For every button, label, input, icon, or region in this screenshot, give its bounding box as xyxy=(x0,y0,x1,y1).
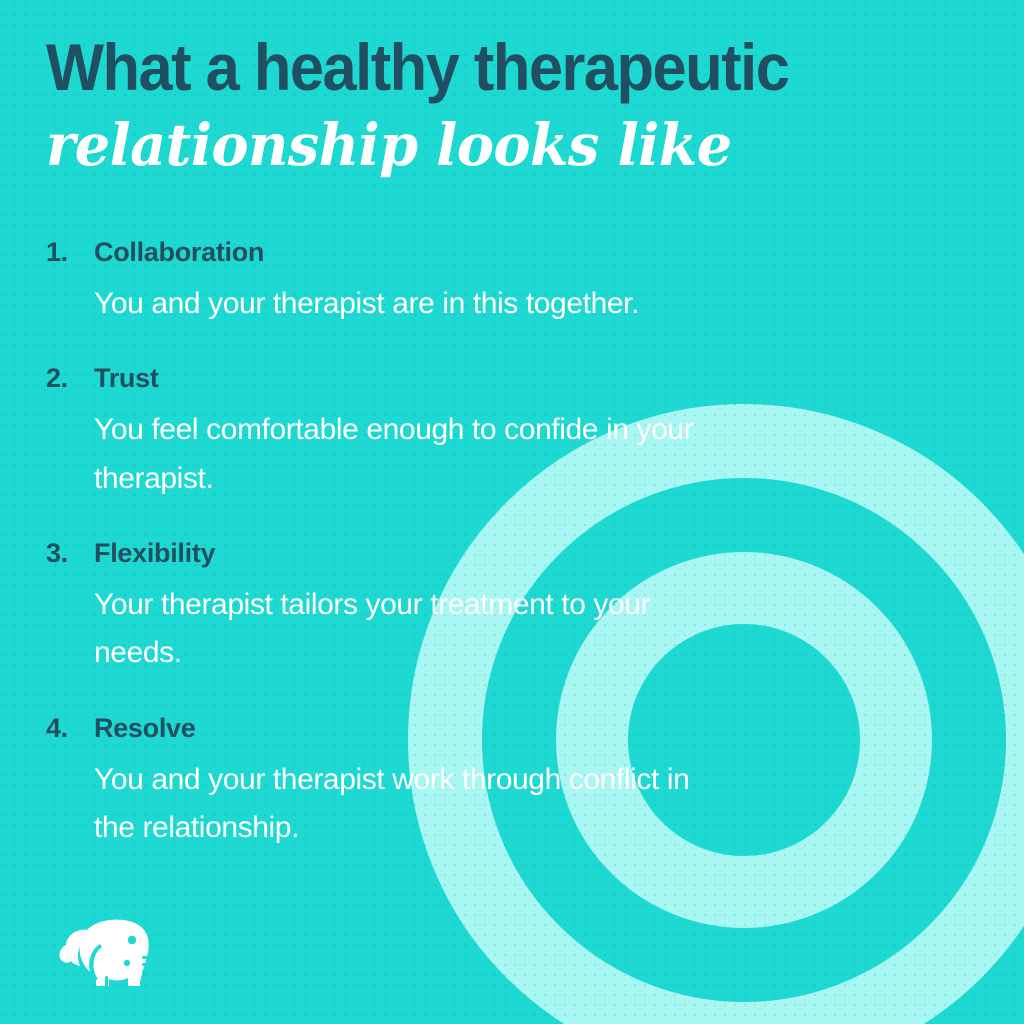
list-item: 4. Resolve You and your therapist work t… xyxy=(46,714,806,853)
list-item: 3. Flexibility Your therapist tailors yo… xyxy=(46,539,806,678)
list-item-number: 3. xyxy=(46,539,94,569)
list-item-header: 1. Collaboration xyxy=(46,238,806,268)
list-item-number: 2. xyxy=(46,364,94,394)
infographic-poster: What a healthy therapeutic relationship … xyxy=(0,0,1024,1024)
list-item: 1. Collaboration You and your therapist … xyxy=(46,238,806,328)
list-item-title: Trust xyxy=(94,364,159,394)
list-item-title: Flexibility xyxy=(94,539,215,569)
list-item-title: Resolve xyxy=(94,714,195,744)
list-item-header: 4. Resolve xyxy=(46,714,806,744)
list-item: 2. Trust You feel comfortable enough to … xyxy=(46,364,806,503)
list-item-header: 2. Trust xyxy=(46,364,806,394)
list-item-body: You feel comfortable enough to confide i… xyxy=(94,406,734,503)
list-item-title: Collaboration xyxy=(94,238,264,268)
elephant-logo xyxy=(58,916,154,990)
list-item-header: 3. Flexibility xyxy=(46,539,806,569)
title-block: What a healthy therapeutic relationship … xyxy=(46,34,966,176)
title-line-primary: What a healthy therapeutic xyxy=(46,34,902,101)
list-item-number: 4. xyxy=(46,714,94,744)
list-item-body: You and your therapist are in this toget… xyxy=(94,280,734,329)
title-line-secondary: relationship looks like xyxy=(46,115,929,175)
list-item-body: Your therapist tailors your treatment to… xyxy=(94,581,734,678)
list-item-body: You and your therapist work through conf… xyxy=(94,756,734,853)
numbered-list: 1. Collaboration You and your therapist … xyxy=(46,238,806,853)
list-item-number: 1. xyxy=(46,238,94,268)
